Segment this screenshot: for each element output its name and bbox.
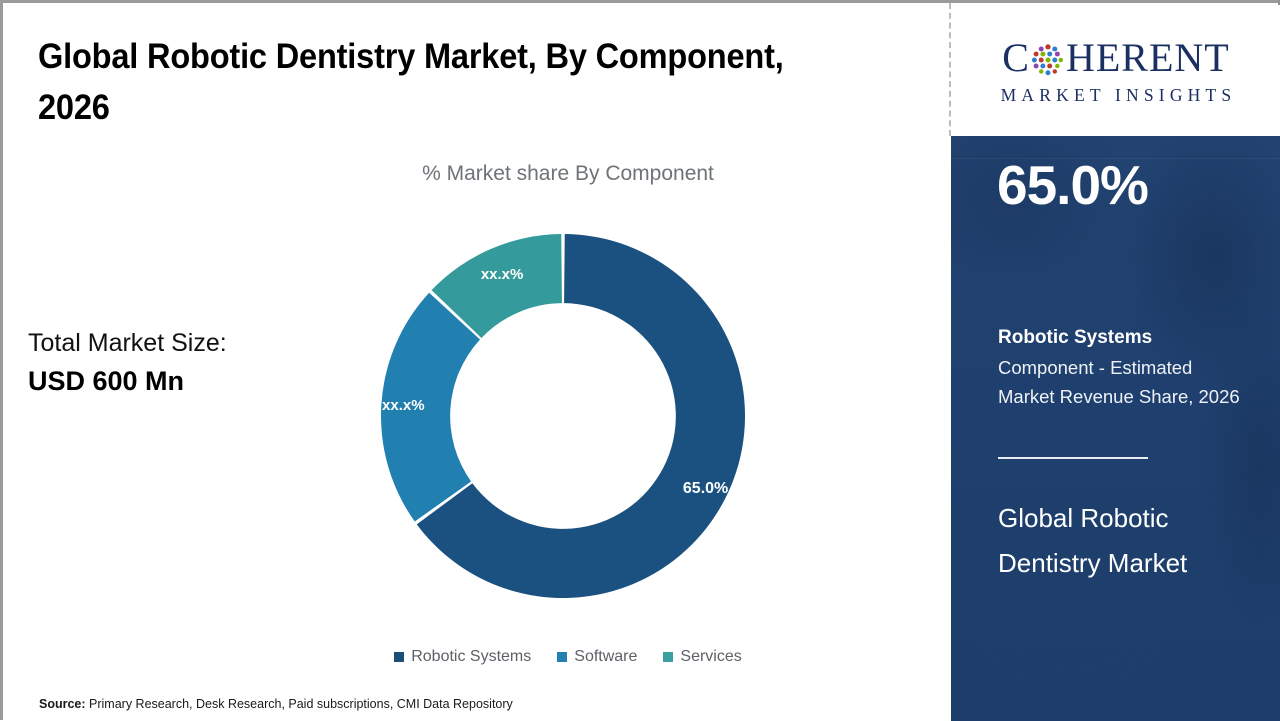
legend-item[interactable]: Software	[557, 648, 637, 666]
logo-wordmark-row: C	[1002, 35, 1229, 81]
logo-tagline: MARKET INSIGHTS	[996, 85, 1237, 106]
donut-slice-label: xx.x%	[382, 397, 425, 414]
logo-letter-c: C	[1002, 38, 1030, 78]
source-label: Source:	[39, 697, 86, 711]
legend-label: Software	[574, 648, 637, 666]
page-title: Global Robotic Dentistry Market, By Comp…	[38, 31, 856, 133]
donut-slice-label: xx.x%	[481, 266, 524, 283]
donut-chart: 65.0%xx.x%xx.x%	[373, 226, 753, 606]
panel-divider-rule	[998, 457, 1148, 459]
donut-chart-svg: 65.0%xx.x%xx.x%	[373, 226, 753, 606]
source-note: Source: Primary Research, Desk Research,…	[39, 697, 513, 711]
chart-subtitle: % Market share By Component	[393, 162, 743, 186]
highlight-panel: 65.0% Robotic Systems Component - Estima…	[951, 136, 1280, 721]
legend-swatch-icon	[557, 652, 567, 662]
legend-label: Services	[680, 648, 741, 666]
total-market-size: Total Market Size: USD 600 Mn	[28, 325, 348, 401]
infographic-canvas: Global Robotic Dentistry Market, By Comp…	[0, 0, 1280, 720]
legend-swatch-icon	[663, 652, 673, 662]
brand-logo: C	[951, 5, 1280, 136]
total-market-size-value: USD 600 Mn	[28, 361, 348, 401]
source-text: Primary Research, Desk Research, Paid su…	[86, 697, 513, 711]
donut-slice-label: 65.0%	[683, 480, 728, 497]
donut-slice-group	[381, 234, 745, 598]
legend-label: Robotic Systems	[411, 648, 531, 666]
legend-item[interactable]: Robotic Systems	[394, 648, 531, 666]
logo-wordmark: HERENT	[1066, 38, 1230, 78]
legend-item[interactable]: Services	[663, 648, 741, 666]
highlight-segment-name: Robotic Systems	[998, 326, 1152, 350]
panel-background-texture	[951, 136, 1280, 721]
highlight-descriptor: Component - Estimated Market Revenue Sha…	[998, 353, 1248, 411]
legend-swatch-icon	[394, 652, 404, 662]
globe-icon	[1031, 43, 1065, 77]
total-market-size-label: Total Market Size:	[28, 325, 348, 361]
panel-report-title: Global Robotic Dentistry Market	[998, 496, 1248, 586]
chart-legend: Robotic SystemsSoftwareServices	[383, 648, 753, 666]
highlight-percent: 65.0%	[997, 154, 1148, 216]
